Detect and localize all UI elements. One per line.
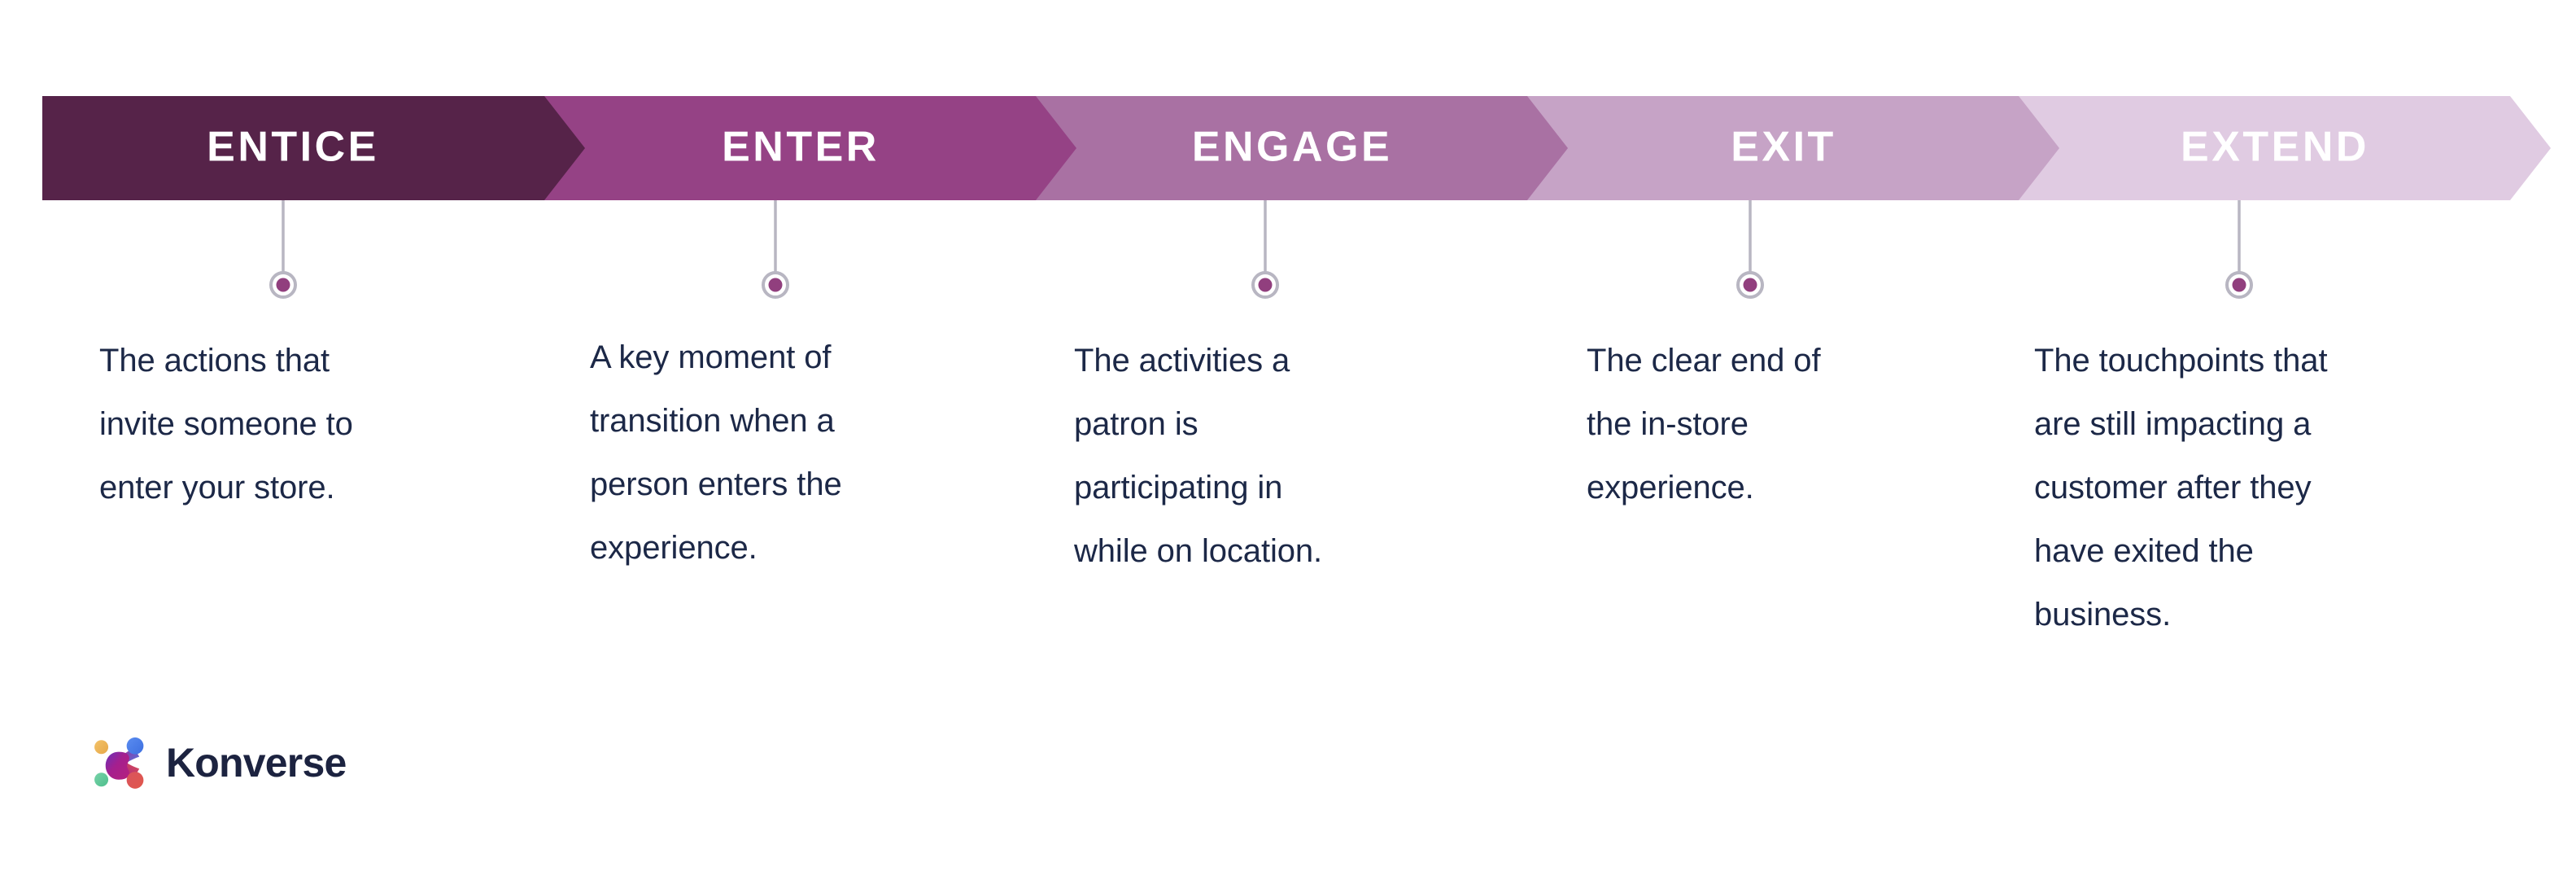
description-line: have exited the (2034, 519, 2327, 583)
stage-label-exit: EXIT (1731, 124, 1836, 171)
description-line: experience. (1587, 456, 1820, 519)
konverse-logo[interactable]: Konverse (91, 733, 346, 793)
connector-dot (769, 278, 783, 292)
description-line: The touchpoints that (2034, 329, 2327, 392)
connector-dot (1744, 278, 1757, 292)
description-line: the in-store (1587, 392, 1820, 456)
connector-ring (2227, 273, 2251, 297)
stage-chevron-entice[interactable]: ENTICE (42, 96, 585, 200)
description-line: The clear end of (1587, 329, 1820, 392)
description-line: enter your store. (99, 456, 353, 519)
description-line: patron is (1074, 392, 1322, 456)
stage-chevron-exit[interactable]: EXIT (1484, 96, 2059, 200)
connector-dot (1259, 278, 1273, 292)
description-line: business. (2034, 583, 2327, 646)
description-line: while on location. (1074, 519, 1322, 583)
connector-ring (763, 273, 788, 297)
stage-description-entice: The actions thatinvite someone toenter y… (99, 329, 353, 519)
description-line: are still impacting a (2034, 392, 2327, 456)
stage-label-enter: ENTER (722, 124, 880, 171)
description-line: customer after they (2034, 456, 2327, 519)
connector-ring (1253, 273, 1277, 297)
konverse-molecule-mark (91, 733, 151, 793)
stage-chevron-engage[interactable]: ENGAGE (993, 96, 1568, 200)
stage-description-engage: The activities apatron isparticipating i… (1074, 329, 1322, 583)
stage-label-engage: ENGAGE (1192, 124, 1392, 171)
description-line: participating in (1074, 456, 1322, 519)
stage-description-enter: A key moment oftransition when aperson e… (590, 326, 842, 580)
description-line: The actions that (99, 329, 353, 392)
connector-dot (277, 278, 290, 292)
logo-wordmark: Konverse (166, 742, 346, 783)
journey-stage-band: EXTEND EXIT ENGAGE ENTER ENTICE (0, 0, 2576, 244)
stage-chevron-enter[interactable]: ENTER (501, 96, 1076, 200)
stage-label-entice: ENTICE (207, 124, 379, 171)
description-line: experience. (590, 516, 842, 580)
description-line: person enters the (590, 453, 842, 516)
stage-chevron-extend[interactable]: EXTEND (1976, 96, 2551, 200)
description-line: invite someone to (99, 392, 353, 456)
infographic-canvas: EXTEND EXIT ENGAGE ENTER ENTICE (0, 0, 2576, 871)
connector-dot (2233, 278, 2246, 292)
description-line: transition when a (590, 389, 842, 453)
connector-ring (271, 273, 295, 297)
stage-description-exit: The clear end ofthe in-storeexperience. (1587, 329, 1820, 519)
stage-description-extend: The touchpoints thatare still impacting … (2034, 329, 2327, 646)
connector-ring (1738, 273, 1762, 297)
description-line: A key moment of (590, 326, 842, 389)
stage-label-extend: EXTEND (2181, 124, 2369, 171)
description-line: The activities a (1074, 329, 1322, 392)
